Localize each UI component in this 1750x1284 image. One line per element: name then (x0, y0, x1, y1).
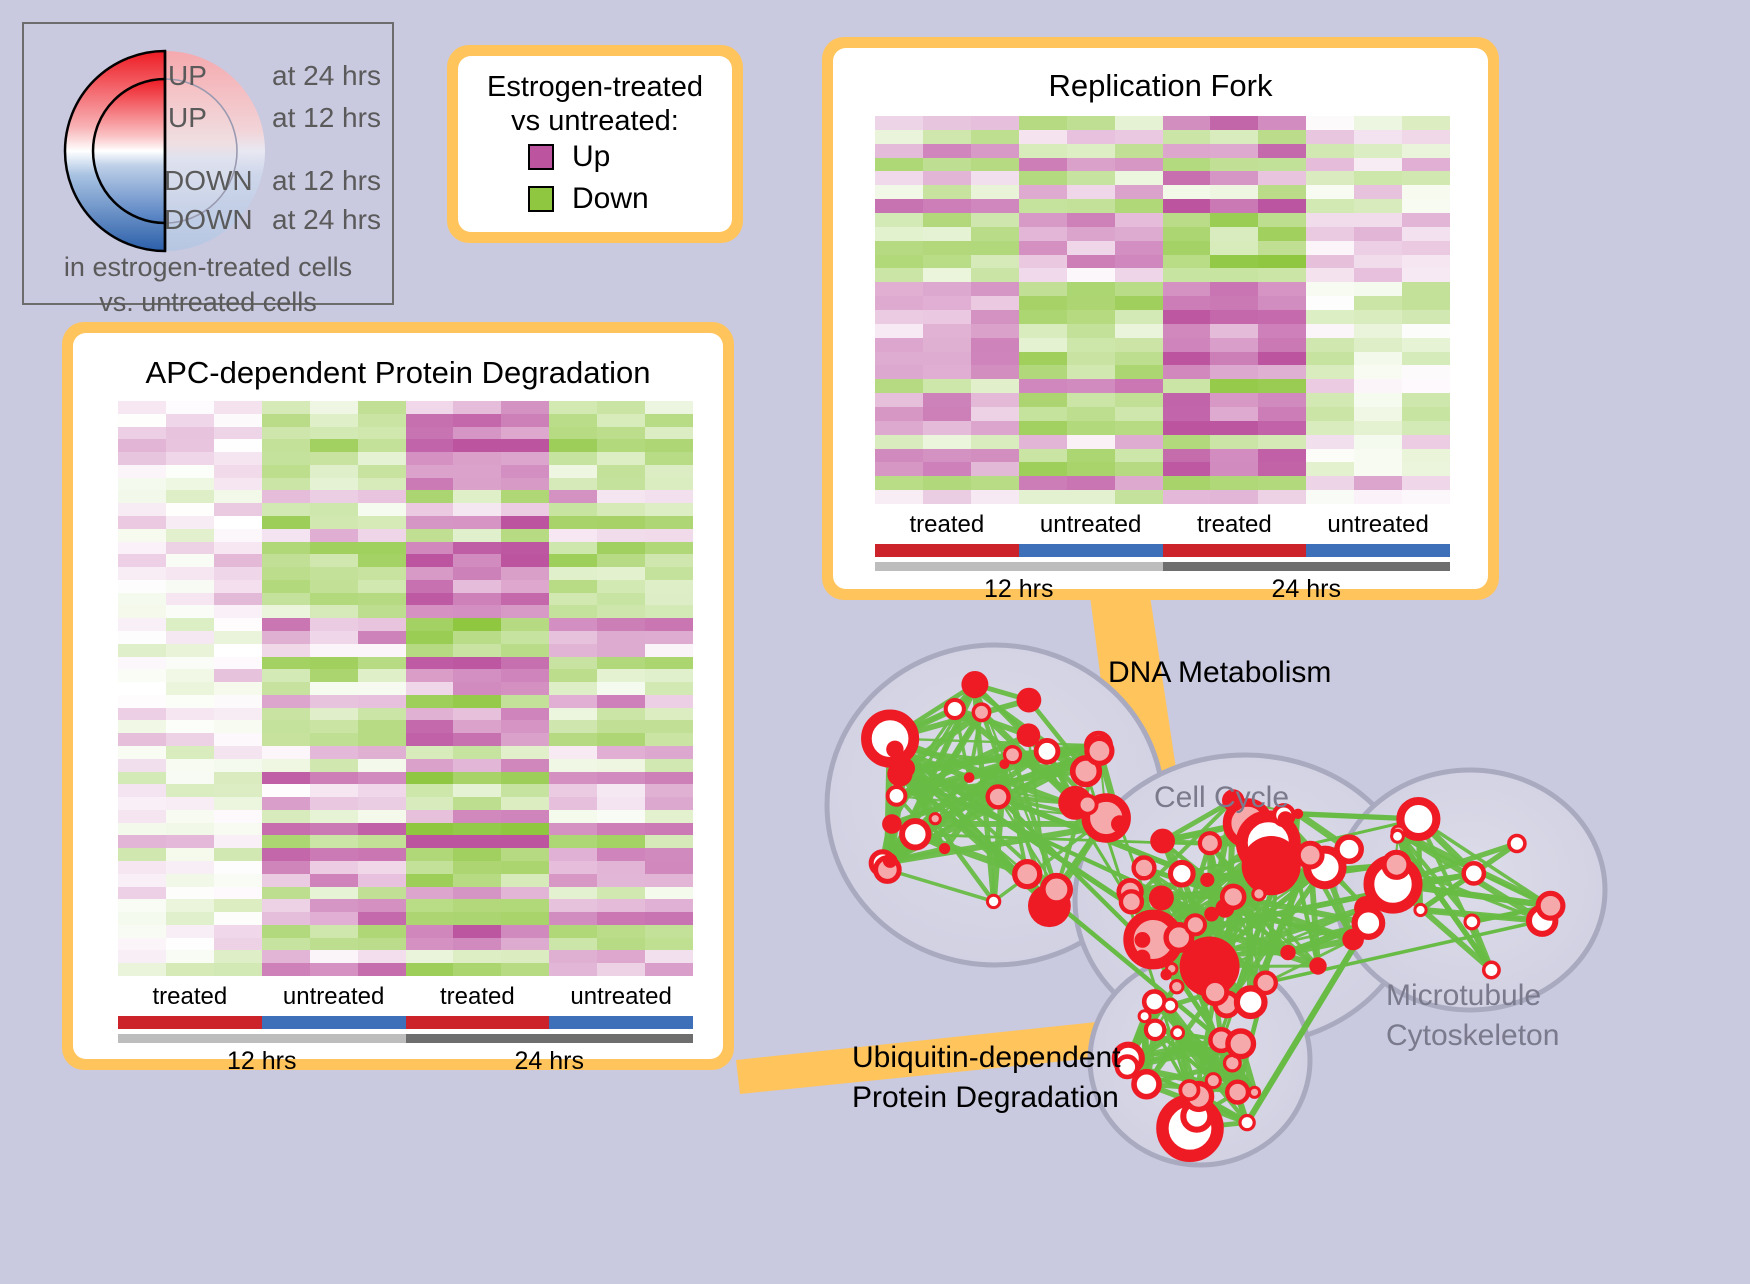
network-node[interactable] (1087, 738, 1112, 763)
heatmap-cell (1354, 310, 1402, 324)
condition-label: treated (118, 983, 262, 1011)
heatmap-cell (971, 324, 1019, 338)
condition-bar-segment (1306, 544, 1450, 557)
heatmap-cell (453, 452, 501, 465)
condition-label: treated (406, 983, 550, 1011)
network-node[interactable] (1272, 873, 1284, 885)
heatmap-cell (1402, 449, 1450, 463)
legend-key-up-24: UP (168, 60, 207, 92)
network-node[interactable] (886, 741, 903, 758)
heatmap-cell (1163, 435, 1211, 449)
heatmap-cell (1210, 296, 1258, 310)
heatmap-cell (358, 874, 406, 887)
heatmap-cell (875, 490, 923, 504)
heatmap-cell (214, 938, 262, 951)
heatmap-cell (262, 835, 310, 848)
network-node[interactable] (1509, 836, 1525, 852)
heatmap-cell (1067, 435, 1115, 449)
heatmap-cell (597, 452, 645, 465)
heatmap-cell (214, 516, 262, 529)
heatmap-cell (1402, 255, 1450, 269)
heatmap-cell (1354, 449, 1402, 463)
network-node[interactable] (1036, 740, 1058, 762)
network-node[interactable] (987, 895, 999, 907)
heatmap-cell (501, 784, 549, 797)
heatmap-cell (214, 478, 262, 491)
heatmap-cell (262, 516, 310, 529)
heatmap-cell (310, 414, 358, 427)
network-node[interactable] (1111, 815, 1128, 832)
heatmap-cell (166, 861, 214, 874)
heatmap-cell (971, 476, 1019, 490)
heatmap-cell (358, 682, 406, 695)
heatmap-cell (453, 772, 501, 785)
network-node[interactable] (1135, 932, 1151, 948)
network-node[interactable] (1309, 957, 1326, 974)
heatmap-cell (1258, 476, 1306, 490)
heatmap-cell (406, 618, 454, 631)
heatmap-cell (923, 227, 971, 241)
heatmap-cell (1019, 393, 1067, 407)
heatmap-cell (1067, 462, 1115, 476)
heatmap-cell (645, 439, 693, 452)
network-node[interactable] (894, 758, 915, 779)
heatmap-cell (1258, 310, 1306, 324)
heatmap-cell (118, 580, 166, 593)
heatmap-cell (971, 144, 1019, 158)
heatmap-cell (1067, 213, 1115, 227)
heatmap-cell (1354, 365, 1402, 379)
heatmap-cell (549, 887, 597, 900)
heatmap-cell (1306, 255, 1354, 269)
heatmap-cell (118, 759, 166, 772)
network-node[interactable] (902, 821, 928, 847)
heatmap-cell (549, 708, 597, 721)
heatmap-cell (597, 963, 645, 976)
network-node[interactable] (967, 682, 983, 698)
heatmap-cell (118, 925, 166, 938)
heatmap-cell (1306, 324, 1354, 338)
network-node[interactable] (1249, 1087, 1259, 1097)
heatmap-cell (1306, 171, 1354, 185)
heatmap-cell (1306, 490, 1354, 504)
heatmap-cell (118, 529, 166, 542)
network-node[interactable] (1121, 891, 1142, 912)
heatmap-cell (214, 427, 262, 440)
heatmap-cell (358, 542, 406, 555)
heatmap-cell (597, 925, 645, 938)
heatmap-cell (406, 657, 454, 670)
heatmap-cell (358, 490, 406, 503)
replication-fork-time-bar (875, 562, 1450, 571)
heatmap-cell (1163, 227, 1211, 241)
network-node[interactable] (1043, 876, 1070, 903)
heatmap-cell (358, 772, 406, 785)
heatmap-cell (1402, 158, 1450, 172)
network-node[interactable] (946, 700, 964, 718)
heatmap-cell (310, 797, 358, 810)
heatmap-cell (501, 529, 549, 542)
heatmap-cell (1115, 352, 1163, 366)
network-node[interactable] (973, 704, 989, 720)
legend-key-down-12: DOWN (164, 165, 253, 197)
heatmap-cell (166, 478, 214, 491)
network-node[interactable] (1134, 858, 1155, 879)
network-node[interactable] (1298, 843, 1322, 867)
heatmap-cell (875, 171, 923, 185)
network-node[interactable] (1161, 969, 1172, 980)
heatmap-cell (1163, 365, 1211, 379)
network-node[interactable] (1079, 796, 1097, 814)
heatmap-cell (1210, 199, 1258, 213)
heatmap-cell (1258, 213, 1306, 227)
heatmap-cell (597, 733, 645, 746)
heatmap-cell (1402, 213, 1450, 227)
heatmap-cell (1067, 393, 1115, 407)
heatmap-cell (262, 759, 310, 772)
network-node[interactable] (1337, 837, 1361, 861)
heatmap-cell (645, 618, 693, 631)
heatmap-cell (166, 465, 214, 478)
heatmap-cell (310, 529, 358, 542)
network-node[interactable] (1415, 904, 1426, 915)
heatmap-cell (597, 682, 645, 695)
heatmap-cell (645, 848, 693, 861)
heatmap-cell (406, 950, 454, 963)
heatmap-cell (406, 963, 454, 976)
heatmap-cell (262, 682, 310, 695)
heatmap-cell (262, 938, 310, 951)
network-node[interactable] (1253, 888, 1265, 900)
heatmap-cell (1306, 449, 1354, 463)
heatmap-cell (597, 823, 645, 836)
network-node[interactable] (1242, 836, 1301, 895)
heatmap-cell (549, 823, 597, 836)
heatmap-cell (549, 682, 597, 695)
heatmap-cell (645, 925, 693, 938)
network-node[interactable] (1144, 991, 1164, 1011)
heatmap-cell (118, 874, 166, 887)
heatmap-cell (501, 401, 549, 414)
heatmap-cell (358, 708, 406, 721)
network-node[interactable] (1005, 747, 1021, 763)
heatmap-cell (645, 938, 693, 951)
heatmap-cell (501, 644, 549, 657)
heatmap-cell (1258, 324, 1306, 338)
heatmap-cell (118, 490, 166, 503)
heatmap-cell (262, 669, 310, 682)
heatmap-cell (549, 580, 597, 593)
heatmap-cell (358, 733, 406, 746)
heatmap-cell (875, 310, 923, 324)
heatmap-cell (166, 439, 214, 452)
heatmap-cell (501, 682, 549, 695)
heatmap-cell (549, 810, 597, 823)
heatmap-cell (923, 421, 971, 435)
heatmap-cell (214, 503, 262, 516)
heatmap-cell (118, 439, 166, 452)
heatmap-cell (166, 542, 214, 555)
time-label: 12 hrs (118, 1047, 406, 1076)
network-node[interactable] (1342, 929, 1364, 951)
network-node[interactable] (1227, 1082, 1248, 1103)
heatmap-cell (923, 324, 971, 338)
heatmap-cell (1258, 268, 1306, 282)
heatmap-cell (549, 516, 597, 529)
heatmap-cell (118, 720, 166, 733)
heatmap-cell (453, 733, 501, 746)
heatmap-cell (1019, 352, 1067, 366)
heatmap-cell (501, 899, 549, 912)
network-node[interactable] (1134, 950, 1150, 966)
heatmap-cell (549, 912, 597, 925)
heatmap-cell (971, 213, 1019, 227)
heatmap-cell (1306, 158, 1354, 172)
heatmap-cell (310, 784, 358, 797)
heatmap-cell (310, 720, 358, 733)
heatmap-cell (310, 503, 358, 516)
heatmap-cell (118, 567, 166, 580)
heatmap-cell (310, 657, 358, 670)
heatmap-cell (597, 810, 645, 823)
heatmap-cell (549, 759, 597, 772)
network-node[interactable] (1180, 1081, 1198, 1099)
heatmap-cell (1402, 227, 1450, 241)
heatmap-cell (453, 516, 501, 529)
heatmap-cell (453, 414, 501, 427)
heatmap-cell (923, 435, 971, 449)
heatmap-cell (1210, 435, 1258, 449)
network-node[interactable] (1171, 981, 1183, 993)
network-node[interactable] (930, 814, 940, 824)
heatmap-cell (262, 580, 310, 593)
network-node[interactable] (1149, 886, 1174, 911)
heatmap-cell (1354, 421, 1402, 435)
heatmap-cell (166, 759, 214, 772)
heatmap-cell (214, 835, 262, 848)
network-node[interactable] (1293, 809, 1303, 819)
heatmap-cell (549, 618, 597, 631)
network-node[interactable] (1204, 907, 1219, 922)
network-node[interactable] (1134, 1072, 1159, 1097)
heatmap-cell (1402, 171, 1450, 185)
network-node[interactable] (964, 772, 975, 783)
heatmap-cell (875, 296, 923, 310)
legend-footer-line2: vs. untreated cells (24, 285, 392, 320)
heatmap-cell (923, 490, 971, 504)
heatmap-cell (1019, 310, 1067, 324)
heatmap-cell (406, 605, 454, 618)
heatmap-cell (597, 490, 645, 503)
network-node[interactable] (988, 787, 1009, 808)
heatmap-cell (118, 414, 166, 427)
heatmap-cell (406, 593, 454, 606)
heatmap-cell (358, 503, 406, 516)
network-node[interactable] (1464, 863, 1484, 883)
network-node[interactable] (1164, 999, 1177, 1012)
heatmap-cell (1163, 324, 1211, 338)
network-node[interactable] (1465, 915, 1479, 929)
heatmap-cell (1354, 185, 1402, 199)
heatmap-cell (262, 618, 310, 631)
heatmap-cell (453, 887, 501, 900)
heatmap-cell (1354, 296, 1402, 310)
network-node[interactable] (1186, 915, 1205, 934)
network-node[interactable] (1146, 1021, 1164, 1039)
heatmap-cell (1306, 407, 1354, 421)
heatmap-cell (118, 593, 166, 606)
heatmap-cell (923, 296, 971, 310)
heatmap-cell (1115, 199, 1163, 213)
heatmap-cell (310, 938, 358, 951)
network-node[interactable] (1171, 862, 1194, 885)
heatmap-cell (549, 593, 597, 606)
network-node[interactable] (1150, 829, 1175, 854)
heatmap-cell (597, 580, 645, 593)
heatmap-cell (262, 529, 310, 542)
heatmap-cell (1354, 255, 1402, 269)
network-node[interactable] (1392, 830, 1404, 842)
heatmap-cell (406, 465, 454, 478)
heatmap-cell (1067, 144, 1115, 158)
heatmap-cell (645, 427, 693, 440)
heatmap-cell (118, 887, 166, 900)
heatmap-cell (118, 746, 166, 759)
heatmap-cell (262, 963, 310, 976)
heatmap-cell (501, 669, 549, 682)
network-node[interactable] (882, 814, 902, 834)
heatmap-cell (597, 861, 645, 874)
heatmap-cell (1019, 476, 1067, 490)
heatmap-cell (262, 644, 310, 657)
condition-bar-segment (406, 1016, 550, 1029)
heatmap-cell (1067, 185, 1115, 199)
heatmap-cell (214, 657, 262, 670)
heatmap-cell (1163, 241, 1211, 255)
heatmap-cell (1115, 393, 1163, 407)
network-node[interactable] (1240, 1116, 1254, 1130)
network-node[interactable] (1484, 962, 1499, 977)
heatmap-cell (1163, 296, 1211, 310)
network-node[interactable] (1228, 1031, 1254, 1057)
heatmap-cell (645, 669, 693, 682)
network-node[interactable] (1538, 893, 1563, 918)
heatmap-cell (1210, 365, 1258, 379)
heatmap-cell (645, 797, 693, 810)
heatmap-cell (645, 963, 693, 976)
heatmap-cell (453, 580, 501, 593)
heatmap-cell (597, 695, 645, 708)
heatmap-cell (118, 938, 166, 951)
heatmap-cell (971, 379, 1019, 393)
heatmap-cell (1210, 449, 1258, 463)
network-node[interactable] (1015, 862, 1040, 887)
heatmap-cell (262, 452, 310, 465)
network-node[interactable] (1384, 852, 1409, 877)
heatmap-cell (1019, 199, 1067, 213)
heatmap-cell (166, 772, 214, 785)
heatmap-cell (597, 797, 645, 810)
heatmap-cell (501, 887, 549, 900)
heatmap-cell (1210, 338, 1258, 352)
heatmap-cell (1306, 421, 1354, 435)
heatmap-cell (453, 950, 501, 963)
heatmap-cell (453, 835, 501, 848)
heatmap-cell (358, 465, 406, 478)
heatmap-cell (1115, 310, 1163, 324)
network-node[interactable] (1222, 886, 1244, 908)
heatmap-cell (118, 695, 166, 708)
network-node[interactable] (888, 787, 906, 805)
heatmap-cell (406, 759, 454, 772)
network-node[interactable] (1280, 945, 1295, 960)
heatmap-cell (310, 861, 358, 874)
heatmap-cell (1210, 171, 1258, 185)
heatmap-cell (597, 887, 645, 900)
heatmap-cell (501, 708, 549, 721)
heatmap-cell (597, 835, 645, 848)
heatmap-cell (1258, 296, 1306, 310)
heatmap-cell (310, 439, 358, 452)
heatmap-cell (214, 580, 262, 593)
heatmap-cell (214, 682, 262, 695)
network-node[interactable] (1200, 833, 1220, 853)
network-node[interactable] (1237, 988, 1265, 1016)
network-node[interactable] (1172, 1027, 1184, 1039)
heatmap-cell (262, 465, 310, 478)
heatmap-cell (1163, 338, 1211, 352)
heatmap-cell (358, 835, 406, 848)
heatmap-cell (310, 695, 358, 708)
heatmap-cell (1402, 241, 1450, 255)
heatmap-cell (358, 644, 406, 657)
heatmap-cell (501, 733, 549, 746)
heatmap-cell (406, 810, 454, 823)
heatmap-cell (501, 618, 549, 631)
updown-title-line1: Estrogen-treated (458, 70, 732, 104)
network-node[interactable] (1204, 981, 1227, 1004)
heatmap-cell (214, 695, 262, 708)
network-node[interactable] (883, 853, 898, 868)
heatmap-cell (358, 516, 406, 529)
heatmap-cell (406, 848, 454, 861)
heatmap-cell (1354, 241, 1402, 255)
network-node[interactable] (1017, 688, 1042, 713)
heatmap-cell (1163, 449, 1211, 463)
heatmap-cell (262, 478, 310, 491)
heatmap-cell (923, 476, 971, 490)
heatmap-cell (453, 631, 501, 644)
apc-condition-bar (118, 1016, 693, 1029)
heatmap-cell (118, 861, 166, 874)
heatmap-cell (1354, 393, 1402, 407)
condition-label: untreated (262, 983, 406, 1011)
heatmap-cell (1019, 324, 1067, 338)
heatmap-cell (923, 116, 971, 130)
heatmap-cell (971, 352, 1019, 366)
network-node[interactable] (1200, 873, 1214, 887)
heatmap-cell (214, 720, 262, 733)
network-node[interactable] (939, 843, 950, 854)
up-color-swatch (528, 144, 554, 170)
heatmap-cell (1402, 130, 1450, 144)
heatmap-cell (453, 963, 501, 976)
heatmap-cell (310, 516, 358, 529)
heatmap-cell (166, 605, 214, 618)
heatmap-cell (118, 478, 166, 491)
heatmap-cell (1402, 379, 1450, 393)
heatmap-cell (549, 490, 597, 503)
